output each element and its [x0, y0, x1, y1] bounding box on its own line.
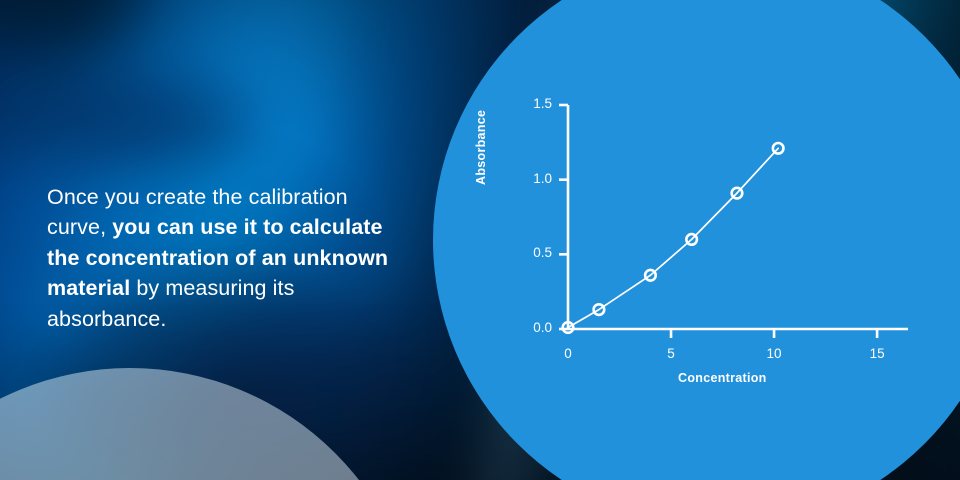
x-axis-title: Concentration	[678, 371, 767, 385]
chart-svg	[480, 60, 920, 400]
x-tick-label: 0	[548, 346, 588, 361]
y-tick-label: 1.5	[510, 96, 552, 111]
calibration-curve-chart: Absorbance Concentration 0.00.51.01.5051…	[480, 60, 920, 400]
y-tick-label: 0.5	[510, 245, 552, 260]
slide-canvas: Once you create the calibration curve, y…	[0, 0, 960, 480]
x-tick-label: 5	[651, 346, 691, 361]
x-tick-label: 10	[754, 346, 794, 361]
body-copy: Once you create the calibration curve, y…	[47, 182, 402, 335]
y-axis-title: Absorbance	[474, 110, 488, 185]
y-tick-label: 1.0	[510, 171, 552, 186]
x-tick-label: 15	[857, 346, 897, 361]
y-tick-label: 0.0	[510, 320, 552, 335]
